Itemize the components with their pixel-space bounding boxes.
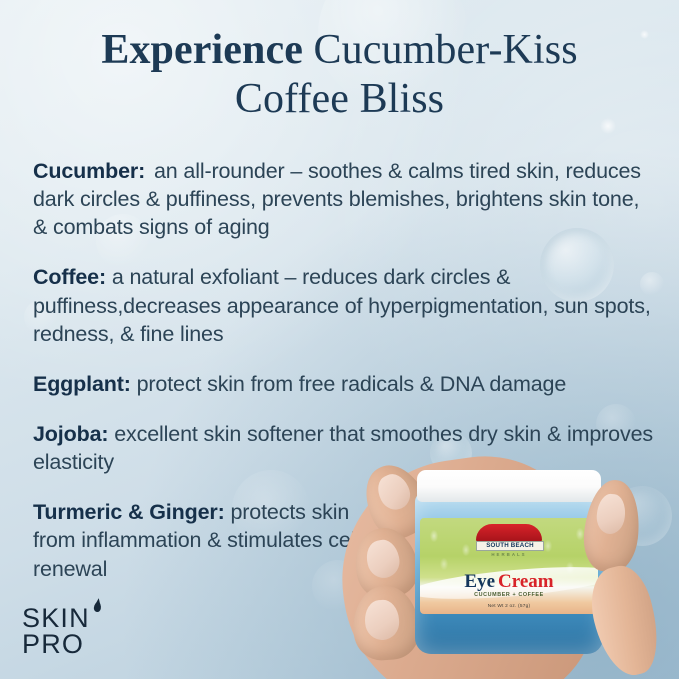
- headline-line-2: Coffee Bliss: [0, 75, 679, 124]
- logo-text-pro: PRO: [22, 631, 90, 657]
- ingredient-cucumber: Cucumber: an all-rounder – soothes & cal…: [33, 157, 658, 242]
- ingredient-turmeric-ginger: Turmeric & Ginger: protects skin from in…: [33, 498, 383, 583]
- headline-line-1: Experience Cucumber-Kiss: [0, 26, 679, 75]
- page-title: Experience Cucumber-Kiss Coffee Bliss: [0, 26, 679, 123]
- headline-emphasis: Experience: [101, 27, 303, 73]
- ingredient-coffee: Coffee: a natural exfoliant – reduces da…: [33, 263, 658, 348]
- brand-name: SOUTH BEACH: [476, 541, 544, 551]
- badge-arc: [476, 524, 542, 541]
- jar-lid: [417, 470, 601, 502]
- ingredient-term: Cucumber:: [33, 159, 145, 183]
- brand-badge: SOUTH BEACH HERBALS: [476, 524, 542, 557]
- promo-image: Experience Cucumber-Kiss Coffee Bliss Cu…: [0, 0, 679, 679]
- ingredient-description: a natural exfoliant – reduces dark circl…: [33, 265, 651, 346]
- ingredient-description: protect skin from free radicals & DNA da…: [131, 372, 566, 396]
- product-title-cream: Cream: [498, 571, 554, 592]
- water-drop-icon: [93, 601, 101, 612]
- ingredient-term: Eggplant:: [33, 372, 131, 396]
- product-net-weight: Net Wt 2 oz. (57g): [420, 604, 598, 609]
- ingredient-eggplant: Eggplant: protect skin from free radical…: [33, 370, 658, 398]
- product-jar: SOUTH BEACH HERBALS EyeCream CUCUMBER + …: [415, 472, 603, 654]
- ingredient-term: Turmeric & Ginger:: [33, 500, 225, 524]
- jar-label: SOUTH BEACH HERBALS EyeCream CUCUMBER + …: [420, 518, 598, 614]
- product-variant: CUCUMBER + COFFEE: [420, 592, 598, 598]
- headline-rest: Cucumber-Kiss: [303, 27, 578, 73]
- logo-line-1: SKIN: [22, 605, 90, 631]
- ingredient-term: Coffee:: [33, 265, 106, 289]
- brand-logo: SKIN PRO: [22, 605, 90, 657]
- product-title-eye: Eye: [464, 571, 495, 592]
- brand-subtitle: HERBALS: [476, 552, 542, 557]
- ingredient-term: Jojoba:: [33, 422, 108, 446]
- product-photo: SOUTH BEACH HERBALS EyeCream CUCUMBER + …: [349, 454, 679, 679]
- product-title: EyeCream: [420, 572, 598, 591]
